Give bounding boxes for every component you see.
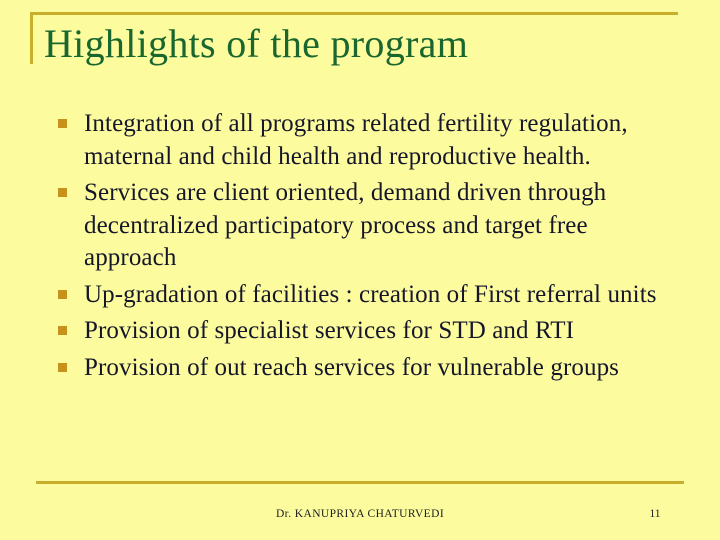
bullet-text: Integration of all programs related fert…	[84, 108, 683, 173]
square-bullet-icon	[58, 290, 67, 299]
square-bullet-icon	[58, 119, 67, 128]
footer-page-number: 11	[630, 508, 680, 520]
slide-canvas: Highlights of the program Integration of…	[0, 0, 720, 540]
list-item: Provision of specialist services for STD…	[58, 315, 683, 348]
bullet-text: Provision of specialist services for STD…	[84, 315, 683, 348]
list-item: Integration of all programs related fert…	[58, 108, 683, 173]
list-item: Provision of out reach services for vuln…	[58, 352, 683, 385]
title-top-rule	[30, 12, 678, 15]
square-bullet-icon	[58, 363, 67, 372]
bullet-text: Up-gradation of facilities : creation of…	[84, 279, 683, 312]
footer-author: Dr. KANUPRIYA CHATURVEDI	[0, 508, 720, 520]
bullet-list: Integration of all programs related fert…	[58, 108, 683, 388]
bullet-text: Provision of out reach services for vuln…	[84, 352, 683, 385]
square-bullet-icon	[58, 188, 67, 197]
list-item: Up-gradation of facilities : creation of…	[58, 279, 683, 312]
bullet-text: Services are client oriented, demand dri…	[84, 177, 683, 275]
square-bullet-icon	[58, 326, 67, 335]
footer-rule	[36, 481, 684, 484]
title-left-rule	[30, 12, 33, 64]
list-item: Services are client oriented, demand dri…	[58, 177, 683, 275]
slide-title: Highlights of the program	[44, 20, 684, 68]
